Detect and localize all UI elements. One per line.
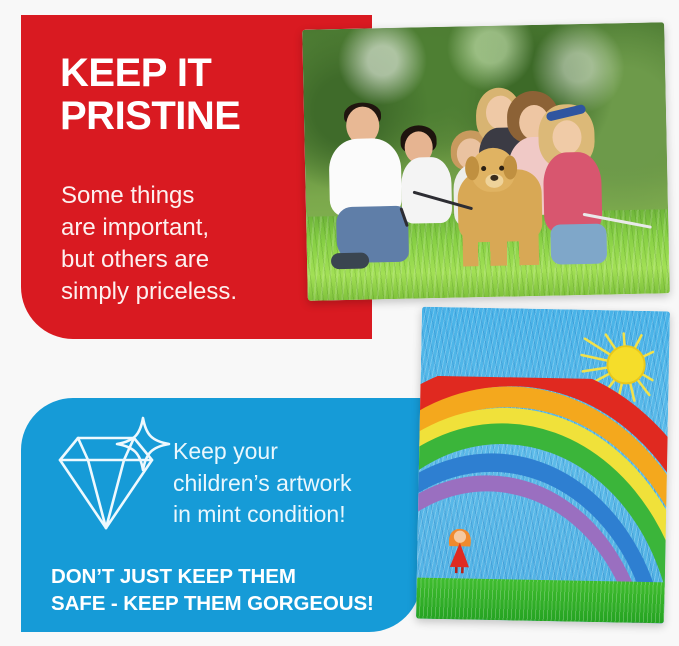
kicker-line-2: SAFE - KEEP THEM GORGEOUS!	[51, 590, 421, 617]
person-boy	[400, 125, 455, 246]
red-panel-subheading: Some things are important, but others ar…	[61, 180, 341, 308]
blue-callout-panel: Keep your children’s artwork in mint con…	[21, 398, 421, 632]
family-photo-image	[302, 22, 670, 301]
blue-copy-line-2: children’s artwork	[173, 468, 423, 500]
family-with-dog-photo	[302, 22, 670, 301]
blue-copy-line-1: Keep your	[173, 436, 423, 468]
blue-panel-kicker: DON’T JUST KEEP THEM SAFE - KEEP THEM GO…	[51, 563, 421, 617]
subhead-line-4: simply priceless.	[61, 276, 341, 308]
artwork-grass	[416, 578, 665, 623]
blue-copy-line-3: in mint condition!	[173, 499, 423, 531]
childrens-rainbow-artwork	[416, 307, 670, 624]
blue-panel-copy: Keep your children’s artwork in mint con…	[173, 436, 423, 531]
person-father	[328, 106, 411, 273]
person-girl-right	[544, 106, 608, 277]
artwork-image	[416, 307, 670, 624]
subhead-line-1: Some things	[61, 180, 341, 212]
diamond-sparkle-icon	[51, 416, 179, 536]
marketing-banner: KEEP IT PRISTINE Some things are importa…	[0, 0, 679, 646]
kicker-line-1: DON’T JUST KEEP THEM	[51, 563, 421, 590]
subhead-line-3: but others are	[61, 244, 341, 276]
subhead-line-2: are important,	[61, 212, 341, 244]
artwork-child-figure	[442, 519, 478, 582]
